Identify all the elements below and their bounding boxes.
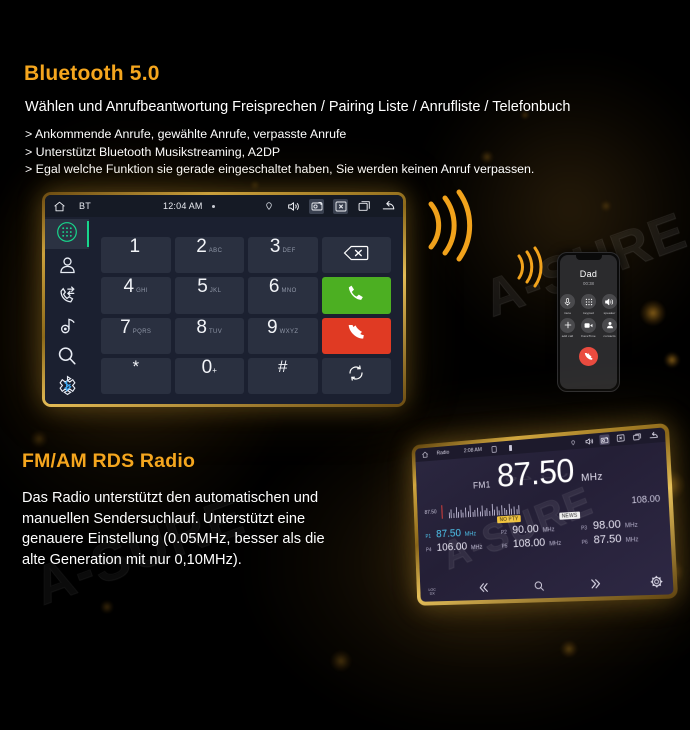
sidebar-item-bluetooth[interactable] (45, 373, 89, 403)
close-icon[interactable] (333, 199, 348, 214)
phone-speaker-button[interactable]: speaker (602, 294, 618, 315)
phone-button-label: FaceTime (581, 334, 595, 338)
phone-mute-button[interactable]: mute (560, 294, 576, 315)
keypad-icon (585, 293, 593, 311)
mic-mute-icon (564, 293, 571, 311)
preset-slot: P6 (582, 540, 590, 546)
smartphone-call-screen[interactable]: Dad 00:38 mute keypad (557, 252, 620, 392)
prev-icon (477, 581, 490, 599)
sidebar-item-search[interactable] (45, 343, 89, 373)
key-number: 3 (270, 237, 281, 256)
key-letters: WXYZ (280, 329, 299, 335)
radio-preset-p1[interactable]: P1 87.50 MHz (425, 526, 497, 542)
phone-call-controls[interactable]: mute keypad spea (560, 294, 617, 338)
preset-unit: MHz (465, 532, 477, 538)
key-number: * (132, 358, 139, 375)
location-icon (567, 437, 577, 448)
bluetooth-section-title: Bluetooth 5.0 (24, 62, 160, 86)
music-note-icon (57, 315, 78, 341)
recents-icon[interactable] (357, 199, 372, 214)
search-icon (533, 579, 545, 597)
tuning-cursor (441, 506, 443, 520)
dialpad-key-star[interactable]: * (101, 358, 171, 394)
dialpad-key-3[interactable]: 3 DEF (248, 237, 318, 273)
bullet-item: > Egal welche Funktion sie gerade einges… (25, 161, 534, 179)
back-icon[interactable] (648, 430, 659, 441)
backspace-icon (343, 245, 369, 266)
key-letters: TUV (209, 329, 222, 335)
dialpad-key-8[interactable]: 8 TUV (175, 318, 245, 354)
radio-preset-p5[interactable]: P5 108.00 MHz (501, 535, 578, 551)
head-unit-clock: 12:04 AM (163, 201, 203, 211)
status-dot (212, 205, 215, 208)
close-icon[interactable] (615, 433, 626, 444)
preset-frequency: 106.00 (436, 541, 467, 554)
key-number: 1 (129, 237, 140, 256)
preset-unit: MHz (471, 545, 483, 551)
preset-slot: P4 (426, 548, 433, 554)
sidebar-item-call-log[interactable] (45, 283, 89, 313)
preset-frequency: 108.00 (513, 537, 546, 551)
radio-app-label: Radio (437, 450, 450, 457)
key-plus: + (212, 366, 217, 375)
dialpad-key-5[interactable]: 5 JKL (175, 277, 245, 313)
sidebar-item-dialpad[interactable] (45, 219, 89, 249)
head-unit-statusbar: BT 12:04 AM (45, 195, 403, 217)
dialpad-key-2[interactable]: 2 ABC (175, 237, 245, 273)
key-letters: JKL (210, 288, 222, 294)
bullet-item: > Unterstützt Bluetooth Musikstreaming, … (25, 144, 534, 162)
key-number: 4 (124, 277, 135, 296)
sound-wave-large (425, 188, 485, 263)
screenshot-icon[interactable] (599, 434, 610, 445)
preset-slot: P2 (501, 530, 509, 536)
radio-next-button[interactable] (589, 577, 603, 596)
preset-frequency: 98.00 (593, 519, 621, 533)
back-icon[interactable] (381, 199, 396, 214)
settings-gear-icon (649, 575, 664, 594)
key-letters: PQRS (133, 329, 152, 335)
phone-notch (576, 255, 602, 260)
radio-prev-button[interactable] (477, 581, 490, 599)
radio-main[interactable]: FM1 87.50 MHz 87.50 87.50 (416, 442, 674, 602)
volume-icon[interactable] (285, 199, 300, 214)
head-unit-app-label: BT (79, 201, 91, 211)
screenshot-icon[interactable] (309, 199, 324, 214)
scale-min-label: 87.50 (424, 510, 436, 517)
phone-contact-name: Dad (580, 269, 597, 279)
sidebar-item-music[interactable] (45, 313, 89, 343)
call-answer-icon (346, 283, 366, 308)
sidebar-item-contacts[interactable] (45, 253, 89, 283)
key-number: 6 (269, 277, 280, 296)
preset-frequency: 87.50 (593, 533, 622, 547)
phone-facetime-button[interactable]: FaceTime (581, 318, 597, 339)
key-number: 9 (267, 318, 278, 337)
preset-slot: P5 (502, 544, 510, 550)
radio-section-title: FM/AM RDS Radio (22, 450, 195, 473)
sync-icon (347, 364, 365, 387)
dialpad-sync-button[interactable] (322, 358, 392, 394)
usb-icon (506, 442, 516, 453)
phone-call-timer: 00:38 (583, 281, 594, 286)
key-letters: DEF (282, 248, 295, 254)
home-icon[interactable] (52, 199, 67, 214)
dialpad-backspace-button[interactable] (322, 237, 392, 273)
plus-icon (564, 316, 572, 334)
preset-unit: MHz (626, 537, 639, 544)
bullet-item: > Ankommende Anrufe, gewählte Anrufe, ve… (25, 126, 534, 144)
dialpad-keys[interactable]: 1 2 ABC 3 DEF (89, 217, 403, 404)
radio-preset-p4[interactable]: P4 106.00 MHz (426, 539, 498, 554)
phone-button-label: mute (564, 311, 571, 315)
dialpad-hangup-button[interactable] (322, 318, 392, 354)
dialpad-key-0[interactable]: 0 + (175, 358, 245, 394)
phone-keypad-button[interactable]: keypad (581, 294, 597, 315)
video-icon (584, 316, 593, 334)
preset-unit: MHz (625, 523, 638, 530)
search-icon (56, 345, 78, 372)
phone-button-label: speaker (604, 311, 616, 315)
call-end-icon (583, 348, 594, 366)
call-end-icon (345, 325, 367, 346)
next-icon (589, 577, 603, 596)
phone-button-label: keypad (583, 311, 594, 315)
key-number: 8 (196, 318, 207, 337)
head-unit-sidebar[interactable] (45, 217, 89, 404)
dialpad-key-9[interactable]: 9 WXYZ (248, 318, 318, 354)
sound-wave-small (515, 245, 549, 289)
pty-badge: NO PTY (497, 515, 521, 523)
volume-icon[interactable] (583, 436, 593, 447)
phone-contacts-button[interactable]: contacts (602, 318, 618, 339)
sd-card-icon (489, 444, 499, 455)
preset-unit: MHz (543, 527, 555, 534)
scale-max-label: 108.00 (631, 494, 660, 506)
key-number: 2 (196, 237, 207, 256)
key-letters: ABC (209, 248, 223, 254)
call-log-icon (56, 285, 78, 311)
preset-slot: P3 (581, 526, 589, 533)
location-icon (261, 199, 276, 214)
pty-badge: NEWS (559, 512, 580, 520)
dialpad-key-6[interactable]: 6 MNO (248, 277, 318, 313)
key-letters: GHI (136, 288, 148, 294)
dialpad-icon (56, 221, 78, 248)
bluetooth-section-bullets: > Ankommende Anrufe, gewählte Anrufe, ve… (25, 126, 534, 179)
radio-preset-p6[interactable]: P6 87.50 MHz (581, 531, 662, 547)
key-number: 5 (197, 277, 208, 296)
dialpad-call-button[interactable] (322, 277, 392, 313)
key-number: 0 (202, 358, 213, 377)
dialpad-key-1[interactable]: 1 (101, 237, 171, 273)
recents-icon[interactable] (632, 431, 643, 442)
head-unit-radio[interactable]: Radio 2:08 AM (411, 423, 678, 606)
contact-person-icon (57, 255, 78, 281)
dialpad-key-7[interactable]: 7 PQRS (101, 318, 171, 354)
phone-button-label: add call (562, 334, 573, 338)
bluetooth-icon (57, 375, 78, 401)
radio-loc-dx-toggle[interactable]: LOCDX (428, 588, 436, 596)
preset-frequency: 90.00 (512, 523, 539, 536)
preset-unit: MHz (549, 541, 561, 548)
bluetooth-section-lead: Wählen und Anrufbeantwortung Freispreche… (25, 98, 675, 118)
phone-button-label: contacts (603, 334, 615, 338)
contact-person-icon (606, 316, 614, 334)
speaker-icon (605, 293, 614, 311)
preset-slot: P1 (425, 534, 432, 540)
phone-add-call-button[interactable]: add call (560, 318, 576, 339)
key-number: 7 (120, 318, 131, 337)
dialpad-key-4[interactable]: 4 GHI (101, 277, 171, 313)
radio-clock: 2:08 AM (464, 447, 482, 454)
key-letters: MNO (281, 288, 296, 294)
radio-settings-button[interactable] (649, 575, 664, 594)
dialpad-key-hash[interactable]: # (248, 358, 318, 394)
radio-toolbar[interactable]: LOCDX (420, 574, 673, 601)
key-number: # (278, 358, 287, 375)
radio-section-body: Das Radio unterstützt den automatischen … (22, 488, 348, 571)
home-icon[interactable] (420, 450, 429, 460)
radio-preset-p2[interactable]: P2 90.00 MHz (501, 521, 577, 537)
phone-end-call-button[interactable] (579, 347, 598, 366)
head-unit-dialpad[interactable]: BT 12:04 AM (42, 192, 406, 407)
preset-frequency: 87.50 (436, 528, 461, 541)
radio-search-button[interactable] (533, 579, 545, 597)
